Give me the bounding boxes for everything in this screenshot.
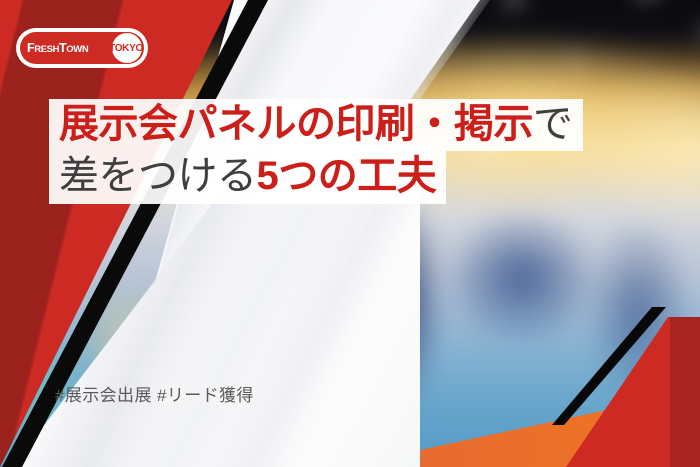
headline-line-1: 展示会パネルの印刷・掲示で xyxy=(49,99,583,151)
blog-thumbnail-banner: FRESHTOWN TOKYO 展示会パネルの印刷・掲示で 差をつける5つの工夫… xyxy=(0,0,700,467)
headline-line-2: 差をつける5つの工夫 xyxy=(49,151,446,203)
hashtag-row: #展示会出展 #リード獲得 xyxy=(55,381,254,406)
freshtown-tokyo-logo[interactable]: FRESHTOWN TOKYO xyxy=(16,28,148,68)
logo-wordmark-fresh-rest: RESH xyxy=(34,44,59,55)
headline-line-2-dark: 差をつける xyxy=(59,154,257,198)
headline-line-2-red: 5つの工夫 xyxy=(257,154,437,198)
logo-wordmark-town-rest: OWN xyxy=(66,44,88,55)
headline-line-1-red: 展示会パネルの印刷・掲示 xyxy=(59,102,533,146)
headline: 展示会パネルの印刷・掲示で 差をつける5つの工夫 xyxy=(49,99,583,204)
logo-tokyo-badge-label: TOKYO xyxy=(110,32,142,64)
logo-inner-plate: FRESHTOWN TOKYO xyxy=(20,32,144,64)
logo-wordmark: FRESHTOWN xyxy=(27,41,88,55)
headline-line-1-dark: で xyxy=(533,102,573,146)
